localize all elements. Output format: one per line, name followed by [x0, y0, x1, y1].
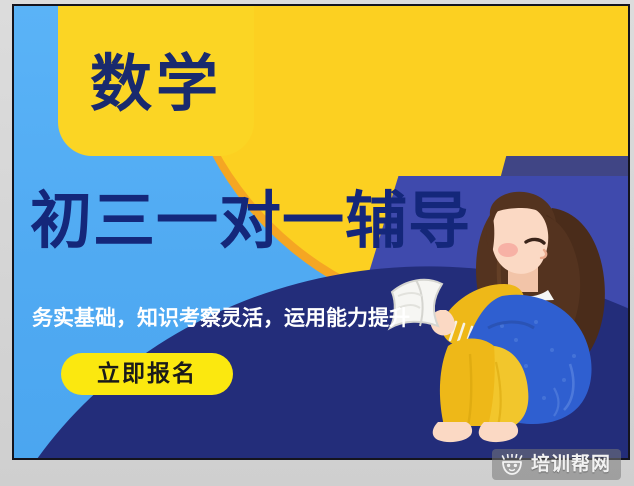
- watermark-text: 培训帮网: [531, 455, 611, 474]
- smiley-sun-icon: [500, 454, 524, 476]
- enroll-now-button[interactable]: 立即报名: [61, 353, 233, 395]
- subject-badge-label: 数学: [90, 39, 222, 115]
- subtitle-text: 务实基础，知识考察灵活，运用能力提升: [32, 302, 410, 332]
- enroll-now-label: 立即报名: [97, 363, 197, 386]
- site-watermark: 培训帮网: [492, 449, 621, 480]
- subject-badge: 数学: [58, 4, 254, 156]
- page-title: 初三一对一辅导: [30, 190, 471, 252]
- course-poster: 数学: [12, 4, 630, 460]
- page-background: 数学: [0, 0, 634, 486]
